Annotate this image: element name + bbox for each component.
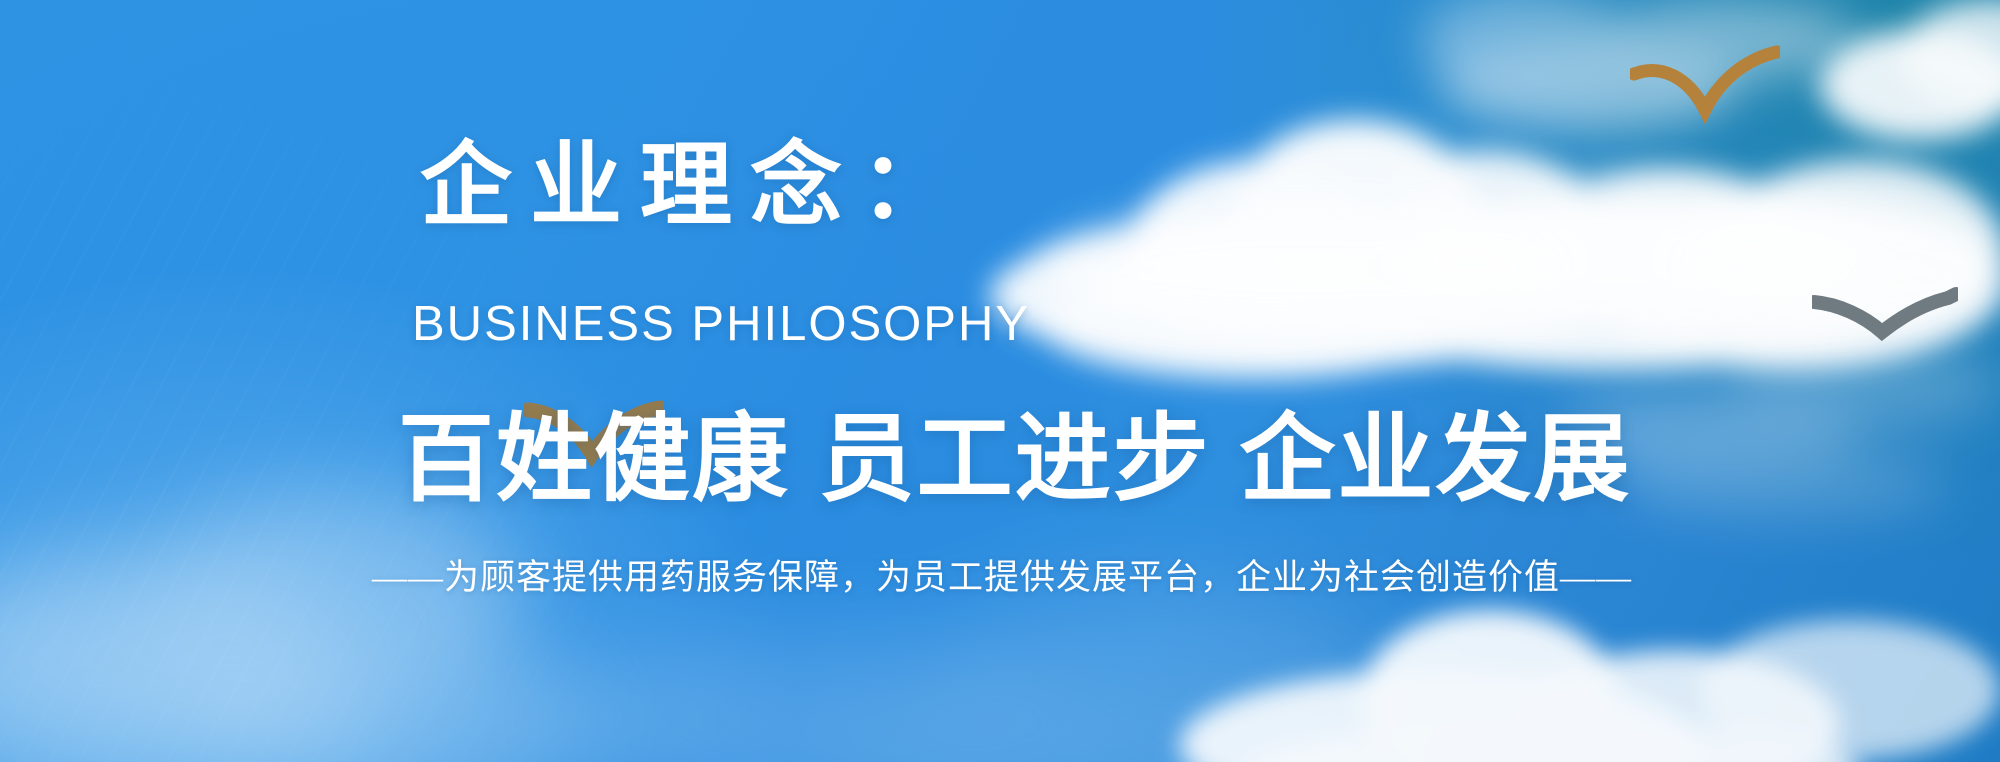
page-subtitle-english: BUSINESS PHILOSOPHY xyxy=(412,300,1030,349)
company-slogan: 百姓健康 员工进步 企业发展 xyxy=(398,412,1631,508)
page-title-chinese: 企业理念： xyxy=(420,140,970,232)
business-philosophy-banner: 企业理念： BUSINESS PHILOSOPHY 百姓健康 员工进步 企业发展… xyxy=(0,0,2000,762)
company-tagline: ——为顾客提供用药服务保障，为员工提供发展平台，企业为社会创造价值—— xyxy=(372,560,1632,595)
banner-text-block: 企业理念： BUSINESS PHILOSOPHY 百姓健康 员工进步 企业发展… xyxy=(0,0,2000,762)
